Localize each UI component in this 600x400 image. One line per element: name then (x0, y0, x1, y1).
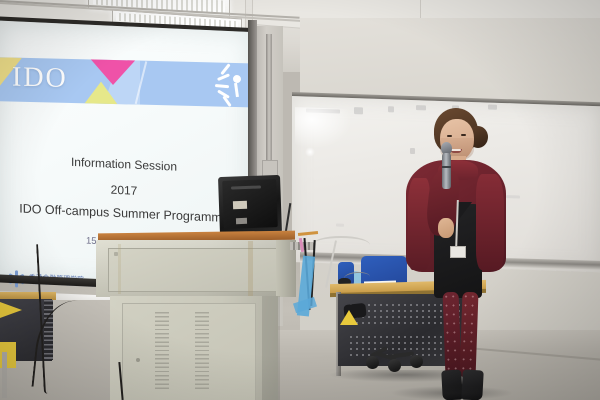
lectern-stain (118, 244, 121, 294)
lectern-lock[interactable] (136, 358, 140, 362)
teeth (451, 149, 461, 151)
lectern-vent (195, 312, 209, 390)
classroom-photo: IDO Information Session 2017 IDO Off-cam… (0, 0, 600, 400)
presenter (398, 108, 514, 400)
slide-line-2: 2017 (0, 178, 250, 203)
microphone-body (442, 153, 451, 189)
cable-bundle (312, 236, 370, 254)
name-badge (450, 246, 466, 258)
presenter-shadow (392, 386, 512, 400)
monitor-cable (285, 203, 291, 233)
whiteboard-highlight (305, 147, 315, 157)
shawl-fold-left (408, 178, 430, 270)
ido-logo-text: IDO (12, 61, 68, 94)
microphone-ring (442, 166, 451, 168)
hand (438, 218, 454, 238)
desk-left-leg (2, 352, 7, 398)
leg-right (460, 292, 479, 379)
lectern-access-door[interactable] (122, 303, 256, 400)
monitor-label-2 (236, 218, 247, 224)
legs (444, 292, 478, 380)
chair-caster (366, 356, 379, 369)
slide-line-3: IDO Off-campus Summer Programme (0, 201, 250, 226)
whiteboard-glare (295, 107, 351, 149)
lectern-stain (248, 241, 253, 296)
leg-left (443, 292, 462, 377)
shawl-fold-right (476, 174, 504, 270)
monitor-label (233, 201, 247, 209)
slide-line-1: Information Session (0, 152, 250, 177)
slide-banner: IDO (0, 57, 250, 107)
lectern-base-shadow (262, 296, 280, 400)
lectern-vent (155, 312, 169, 390)
person-starburst-icon (208, 65, 242, 104)
